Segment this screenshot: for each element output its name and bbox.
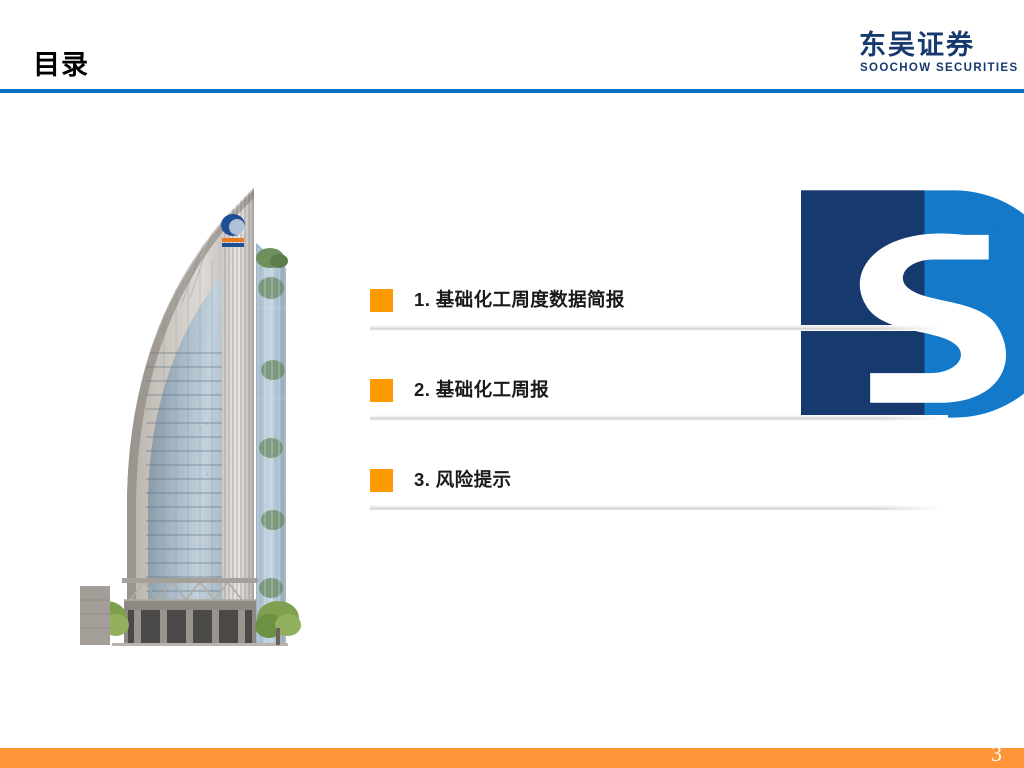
toc-item-3-label: 3. 风险提示 (414, 468, 511, 492)
toc-item-2[interactable]: 2. 基础化工周报 (370, 375, 950, 465)
toc-item-1-divider (370, 325, 948, 331)
orange-square-bullet-icon (370, 469, 393, 492)
logo-name-cn: 东吴证券 (859, 29, 975, 61)
page-number: 3 (991, 741, 1002, 767)
page-title: 目录 (33, 48, 89, 82)
toc-item-2-divider (370, 415, 948, 421)
toc-item-3-row[interactable]: 3. 风险提示 (370, 465, 511, 495)
toc-item-1-label: 1. 基础化工周度数据简报 (414, 288, 625, 312)
toc-item-1-row[interactable]: 1. 基础化工周度数据简报 (370, 285, 625, 315)
slide-header: 目录 东吴证券 SOOCHOW SECURITIES (0, 0, 1024, 93)
footer-bar (0, 748, 1024, 768)
toc-item-2-label: 2. 基础化工周报 (414, 378, 549, 402)
header-divider-rule (0, 89, 1024, 93)
toc-item-3[interactable]: 3. 风险提示 (370, 465, 950, 555)
toc-item-1[interactable]: 1. 基础化工周度数据简报 (370, 285, 950, 375)
table-of-contents: 1. 基础化工周度数据简报 2. 基础化工周报 3. 风险提示 (370, 285, 950, 555)
brand-logo: 东吴证券 SOOCHOW SECURITIES (801, 29, 1013, 81)
toc-item-3-divider (370, 505, 948, 511)
headquarters-building-photo (72, 148, 319, 694)
toc-item-2-row[interactable]: 2. 基础化工周报 (370, 375, 549, 405)
orange-square-bullet-icon (370, 379, 393, 402)
orange-square-bullet-icon (370, 289, 393, 312)
logo-name-en: SOOCHOW SECURITIES (860, 62, 1018, 75)
soochow-s-mark-icon (801, 31, 851, 77)
